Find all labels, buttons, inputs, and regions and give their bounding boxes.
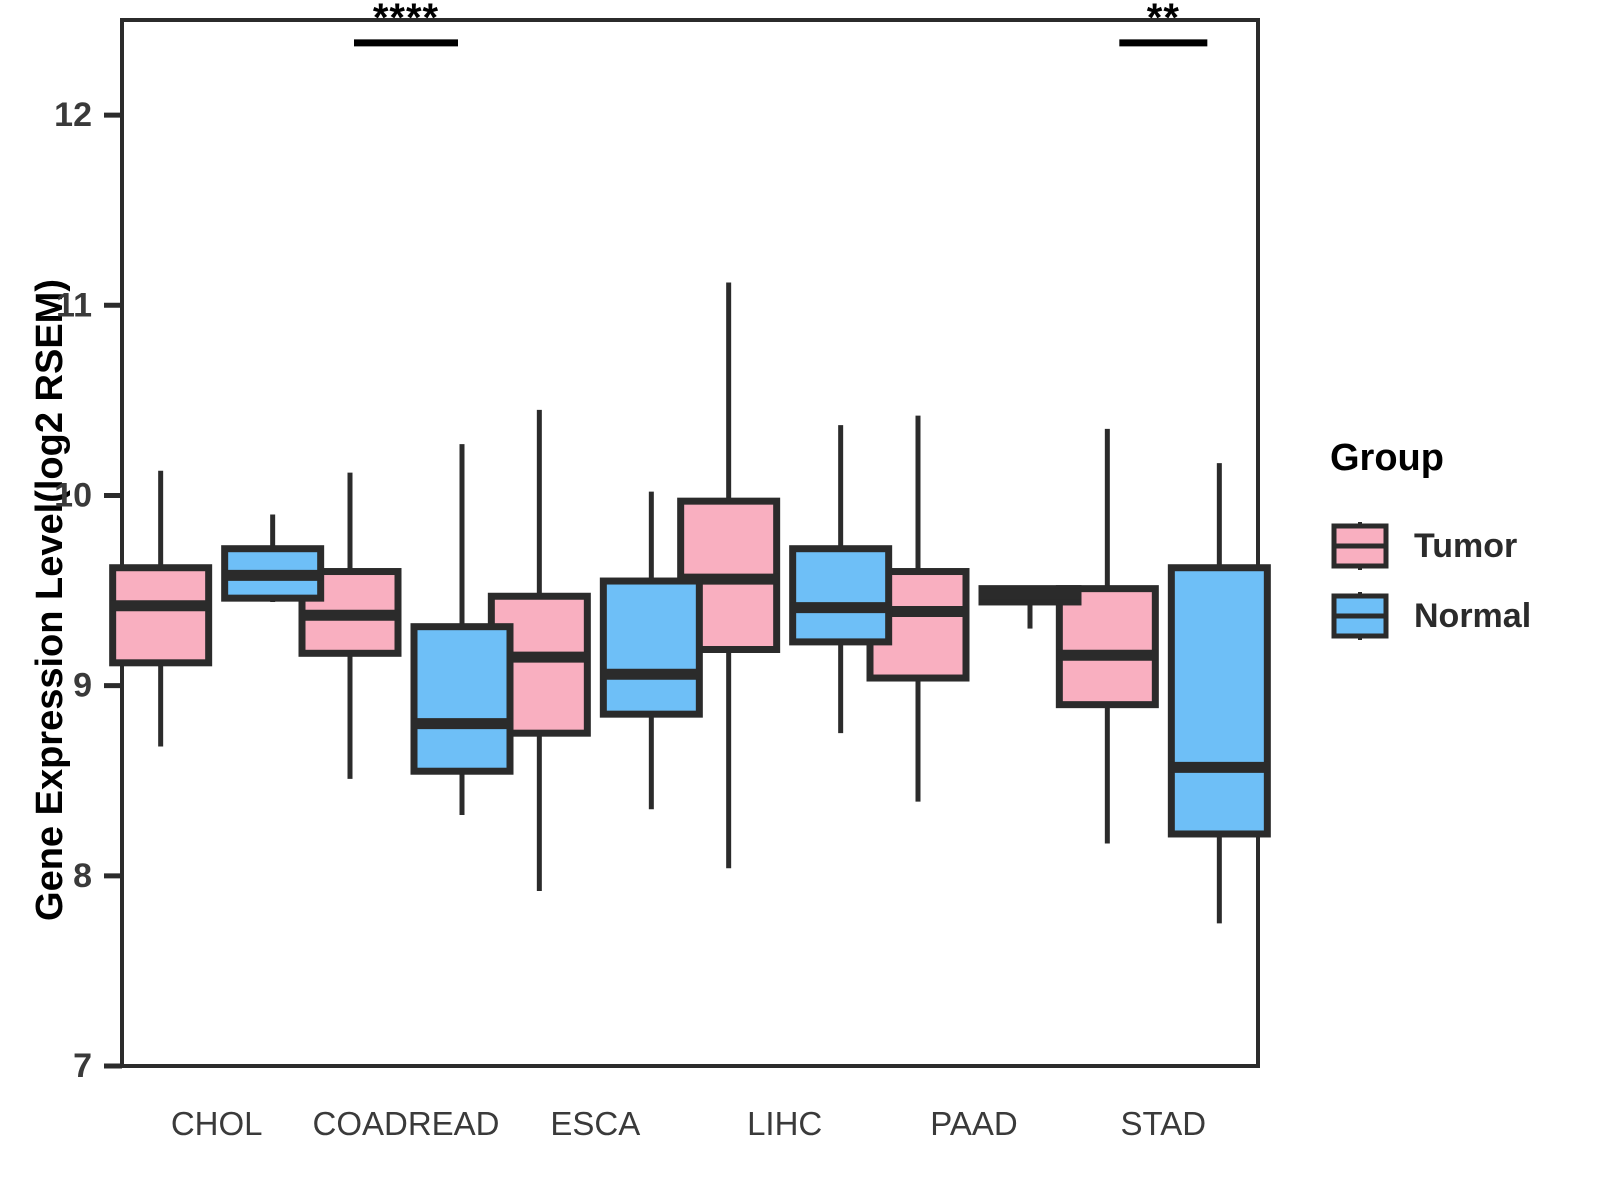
significance-label: ** (1147, 0, 1180, 40)
legend-item-tumor[interactable]: Tumor (1330, 520, 1517, 572)
box-rect (1171, 568, 1267, 834)
y-tick-label: 11 (56, 286, 92, 324)
x-tick-label-paad: PAAD (930, 1105, 1017, 1142)
x-tick-label-esca: ESCA (550, 1105, 640, 1142)
y-tick-label: 10 (54, 476, 92, 514)
boxplot-figure: Gene Expression Level(log2 RSEM) 7891011… (0, 0, 1600, 1200)
y-tick-label: 7 (73, 1047, 92, 1085)
y-tick-label: 12 (54, 96, 92, 134)
y-axis-title: Gene Expression Level(log2 RSEM) (29, 279, 71, 921)
box-rect (414, 627, 510, 772)
chart-root: Gene Expression Level(log2 RSEM) 7891011… (0, 0, 1600, 1200)
y-tick-label: 8 (73, 857, 92, 895)
box-rect (113, 568, 209, 663)
box-rect (603, 581, 699, 714)
legend-label: Normal (1414, 597, 1531, 635)
x-tick-label-lihc: LIHC (747, 1105, 822, 1142)
box-rect (1059, 589, 1155, 705)
significance-label: **** (373, 0, 439, 40)
y-tick-label: 9 (73, 667, 92, 705)
x-tick-label-coadread: COADREAD (312, 1105, 499, 1142)
x-tick-label-stad: STAD (1121, 1105, 1207, 1142)
x-tick-label-chol: CHOL (171, 1105, 263, 1142)
box-rect (793, 549, 889, 642)
legend-label: Tumor (1414, 527, 1517, 565)
legend-title: Group (1330, 437, 1444, 479)
legend-item-normal[interactable]: Normal (1330, 590, 1531, 642)
